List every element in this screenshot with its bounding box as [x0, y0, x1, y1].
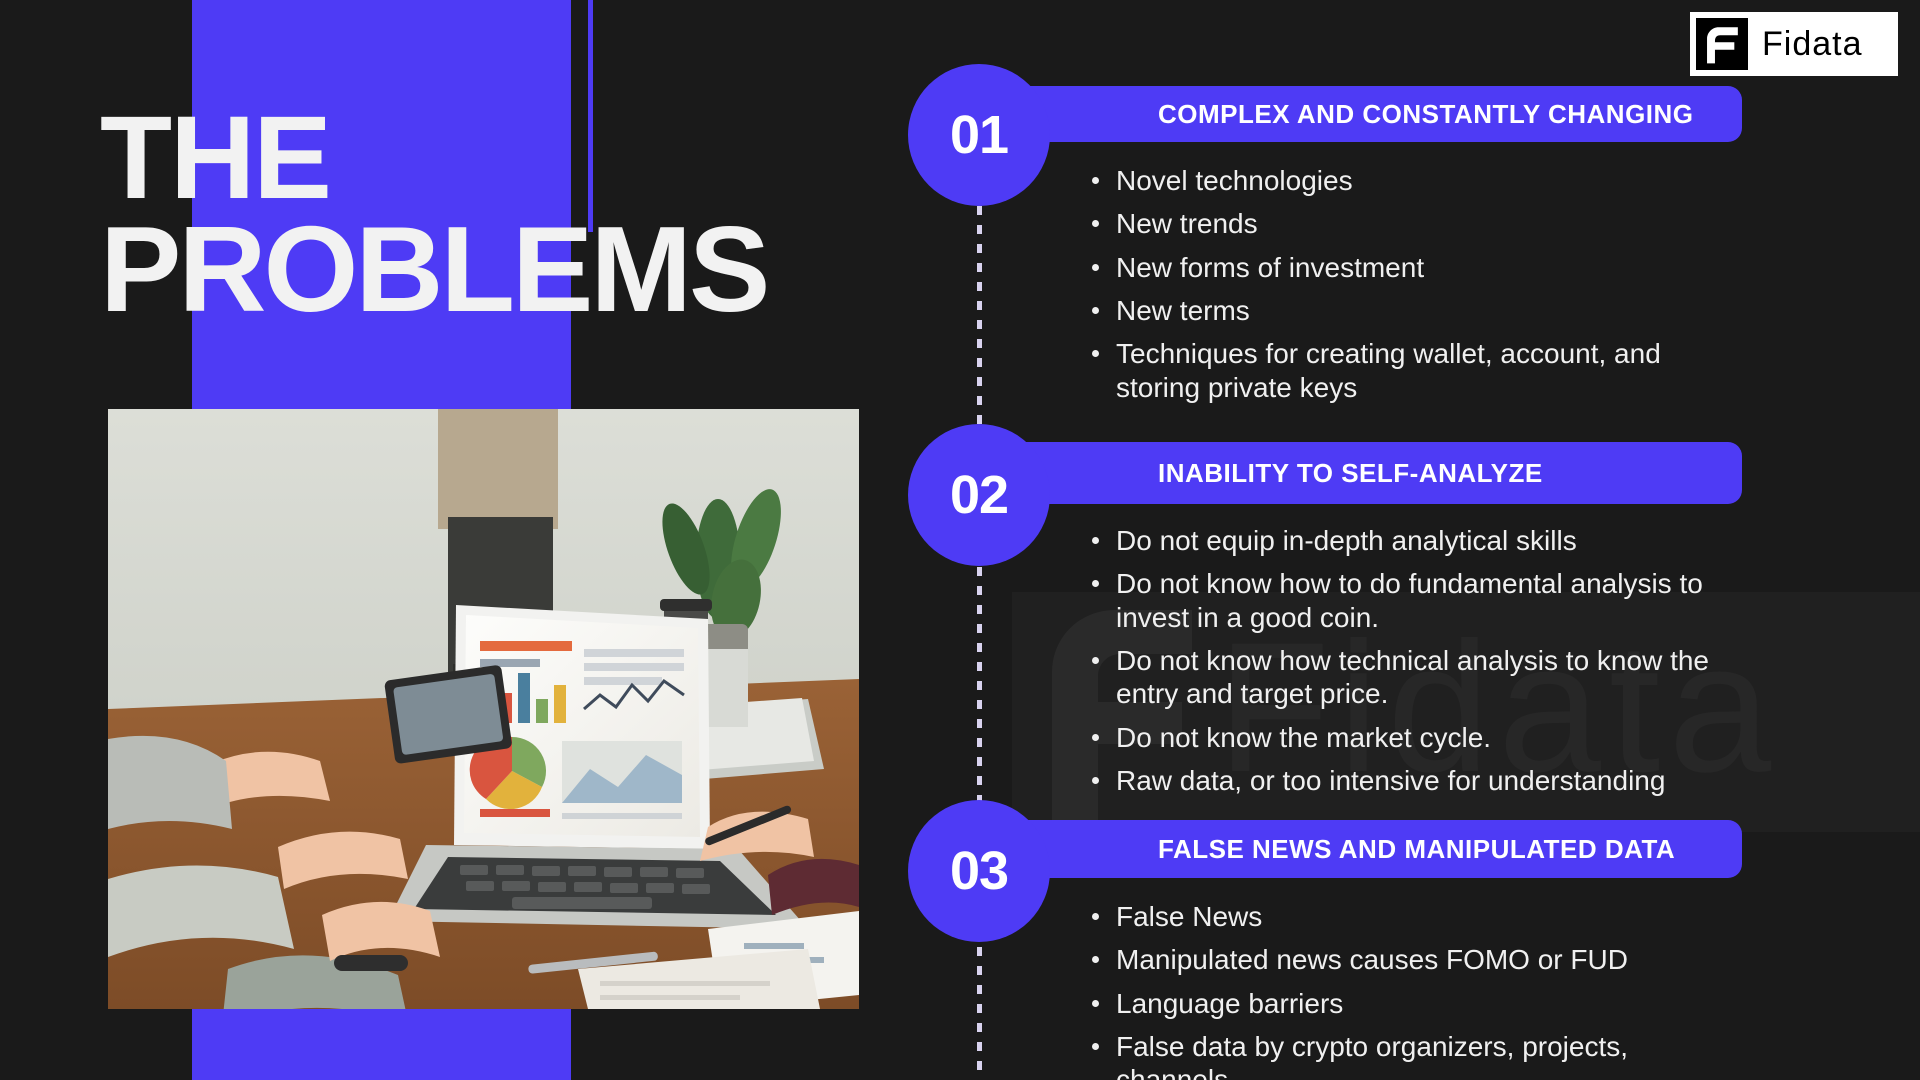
list-item: Do not know how technical analysis to kn… — [1086, 644, 1726, 711]
list-item: False data by crypto organizers, project… — [1086, 1030, 1726, 1080]
section-01-number: 01 — [950, 104, 1008, 166]
title-line-2: PROBLEMS — [100, 213, 900, 325]
section-01-badge: 01 — [908, 64, 1050, 206]
photo-illustration — [108, 409, 859, 1009]
section-01-header-bar[interactable]: COMPLEX AND CONSTANTLY CHANGING — [980, 86, 1742, 142]
f-mark-icon — [1700, 22, 1744, 66]
section-03-bullets: False News Manipulated news causes FOMO … — [1086, 900, 1726, 1080]
section-03-title: FALSE NEWS AND MANIPULATED DATA — [1158, 834, 1675, 865]
brand-logo[interactable]: Fidata — [1690, 12, 1898, 76]
section-03-badge: 03 — [908, 800, 1050, 942]
section-03-number: 03 — [950, 840, 1008, 902]
section-03-header-bar[interactable]: FALSE NEWS AND MANIPULATED DATA — [980, 820, 1742, 878]
list-item: Language barriers — [1086, 987, 1726, 1020]
page-title: THE PROBLEMS — [100, 104, 900, 325]
title-line-1: THE — [100, 104, 900, 213]
list-item: Novel technologies — [1086, 164, 1726, 197]
section-02-title: INABILITY TO SELF-ANALYZE — [1158, 458, 1543, 489]
list-item: Techniques for creating wallet, account,… — [1086, 337, 1726, 404]
section-02-badge: 02 — [908, 424, 1050, 566]
section-01-bullets: Novel technologies New trends New forms … — [1086, 164, 1726, 414]
presentation-slide: Fidata THE PROBLEMS — [0, 0, 1920, 1080]
section-01-title: COMPLEX AND CONSTANTLY CHANGING — [1158, 99, 1694, 130]
section-02-number: 02 — [950, 464, 1008, 526]
section-02-header-bar[interactable]: INABILITY TO SELF-ANALYZE — [980, 442, 1742, 504]
list-item: Raw data, or too intensive for understan… — [1086, 764, 1726, 797]
list-item: False News — [1086, 900, 1726, 933]
section-02-bullets: Do not equip in-depth analytical skills … — [1086, 524, 1726, 807]
list-item: New terms — [1086, 294, 1726, 327]
list-item: Do not know how to do fundamental analys… — [1086, 567, 1726, 634]
list-item: New forms of investment — [1086, 251, 1726, 284]
list-item: New trends — [1086, 207, 1726, 240]
list-item: Do not know the market cycle. — [1086, 721, 1726, 754]
list-item: Manipulated news causes FOMO or FUD — [1086, 943, 1726, 976]
team-photo — [108, 409, 859, 1009]
brand-name: Fidata — [1762, 25, 1863, 64]
list-item: Do not equip in-depth analytical skills — [1086, 524, 1726, 557]
fidata-logo-icon — [1696, 18, 1748, 70]
